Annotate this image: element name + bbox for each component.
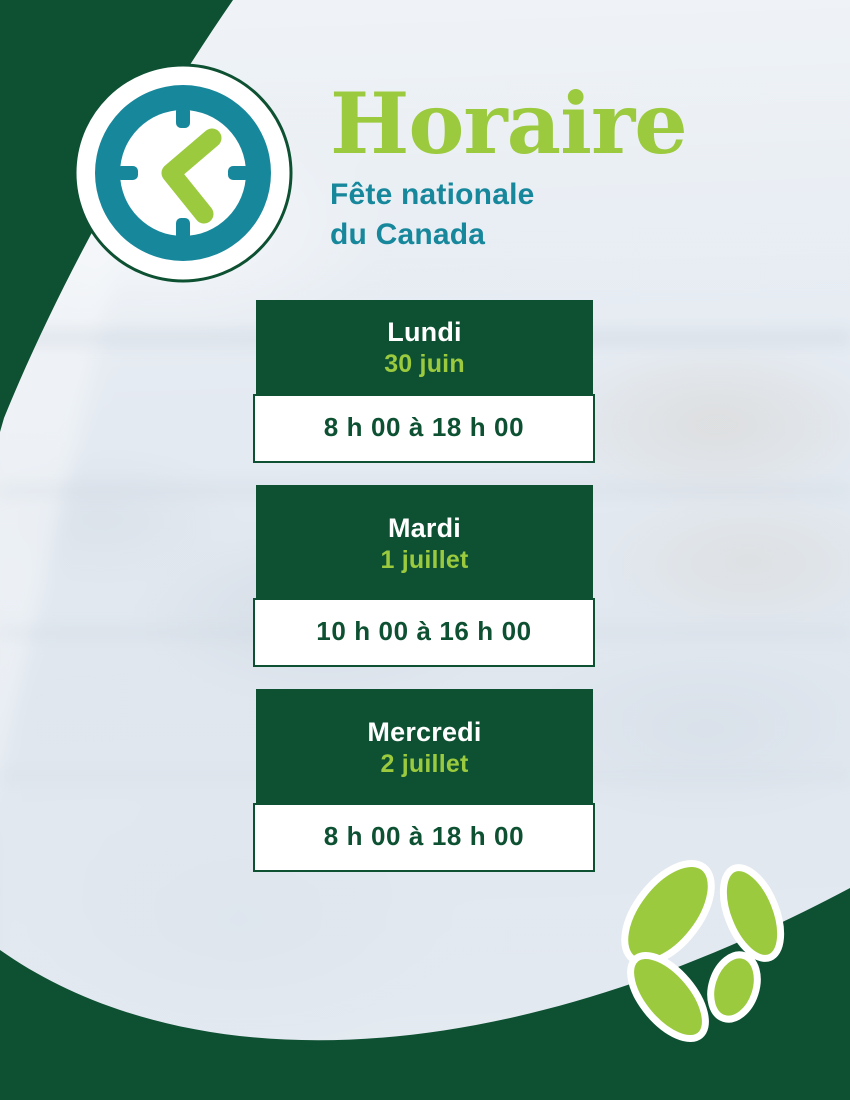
page-title: Horaire [330,84,750,165]
heading-block: Horaire Fête nationale du Canada [330,84,750,256]
subtitle-line-2: du Canada [330,215,750,256]
butterfly-ornament-icon [612,855,818,1055]
schedule-card-lundi: Lundi 30 juin 8 h 00 à 18 h 00 [253,300,595,463]
schedule-card-header: Mercredi 2 juillet [256,689,593,802]
schedule-day-label: Mardi [256,512,593,545]
schedule-card-header: Lundi 30 juin [256,300,593,394]
schedule-card-body: 8 h 00 à 18 h 00 [253,394,595,463]
schedule-day-label: Mercredi [256,716,593,749]
schedule-card-body: 10 h 00 à 16 h 00 [253,598,595,667]
schedule-date-label: 1 juillet [256,545,593,576]
schedule-hours-label: 8 h 00 à 18 h 00 [255,821,593,852]
schedule-day-label: Lundi [256,316,593,349]
schedule-hours-label: 8 h 00 à 18 h 00 [255,412,593,443]
schedule-date-label: 2 juillet [256,749,593,780]
poster-canvas: Horaire Fête nationale du Canada Lundi 3… [0,0,850,1100]
page-subtitle: Fête nationale du Canada [330,175,750,257]
schedule-card-body: 8 h 00 à 18 h 00 [253,803,595,872]
schedule-card-mardi: Mardi 1 juillet 10 h 00 à 16 h 00 [253,485,595,667]
subtitle-line-1: Fête nationale [330,175,750,216]
schedule-card-header: Mardi 1 juillet [256,485,593,598]
schedule-hours-label: 10 h 00 à 16 h 00 [255,616,593,647]
schedule-date-label: 30 juin [256,349,593,380]
clock-icon [72,62,294,284]
schedule-card-mercredi: Mercredi 2 juillet 8 h 00 à 18 h 00 [253,689,595,871]
schedule-card-list: Lundi 30 juin 8 h 00 à 18 h 00 Mardi 1 j… [253,300,595,872]
